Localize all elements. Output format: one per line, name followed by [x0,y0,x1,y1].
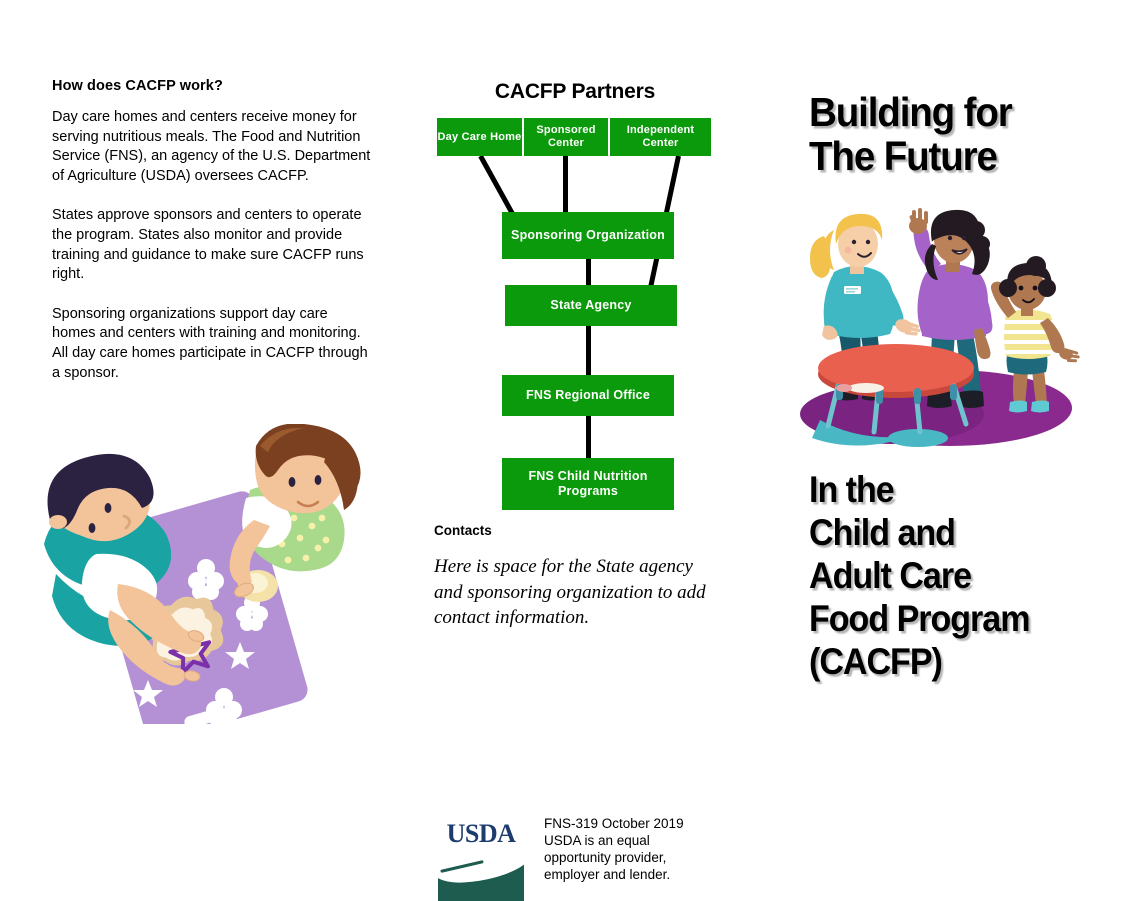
cover-title-top-line-2: The Future [809,134,1082,178]
left-paragraph-1: Day care homes and centers receive money… [52,108,372,186]
cover-title-bottom-line-2: Child and [809,511,1085,554]
flow-node-independent-center[interactable]: Independent Center [610,118,711,156]
cover-title-bottom-line-3: Adult Care [809,554,1085,597]
brochure-page: How does CACFP work? Day care homes and … [0,0,1144,893]
cacfp-partners-flowchart: Day Care Home Sponsored Center Independe… [430,78,730,518]
connector-state-to-fnsregional [586,324,591,378]
cover-title-bottom-line-5: (CACFP) [809,640,1085,683]
footer-publication-info: FNS-319 October 2019 USDA is an equal op… [544,815,719,883]
cover-title-bottom-line-4: Food Program [809,597,1085,640]
flow-node-sponsoring-organization[interactable]: Sponsoring Organization [502,212,674,259]
left-paragraph-3: Sponsoring organizations support day car… [52,305,372,383]
usda-logo: USDA [438,815,524,901]
flow-node-sponsored-center[interactable]: Sponsored Center [524,118,608,156]
middle-column: CACFP Partners Day Care Home Sponsored C… [430,78,730,858]
contacts-heading: Contacts [434,523,714,538]
flow-node-state-agency[interactable]: State Agency [505,285,677,326]
connector-sponsored-to-sponsoring [563,156,568,214]
connector-daycare-to-sponsoring [478,155,515,217]
illustration-adult-and-child-cutting-sandwich [36,424,381,724]
left-column-heading: How does CACFP work? [52,78,372,94]
cover-title-top: Building for The Future [809,90,1082,178]
connector-fnsregional-to-fnscnp [586,414,591,462]
cover-title-top-line-1: Building for [809,90,1082,134]
flow-node-fns-child-nutrition-programs[interactable]: FNS Child Nutrition Programs [502,458,674,510]
cover-title-bottom: In the Child and Adult Care Food Program… [809,468,1085,683]
illustration-adults-and-child-at-table [800,208,1082,453]
connector-sponsoring-to-state [586,258,591,288]
contacts-placeholder-text: Here is space for the State agency and s… [434,554,714,631]
usda-logo-wordmark: USDA [438,819,524,849]
contacts-section: Contacts Here is space for the State age… [434,523,714,631]
flow-node-fns-regional-office[interactable]: FNS Regional Office [502,375,674,416]
cover-title-bottom-line-1: In the [809,468,1085,511]
flow-node-day-care-home[interactable]: Day Care Home [437,118,522,156]
usda-logo-field [438,853,524,901]
child-figure [230,424,361,600]
left-text-column: How does CACFP work? Day care homes and … [52,78,372,383]
left-paragraph-2: States approve sponsors and centers to o… [52,206,372,284]
